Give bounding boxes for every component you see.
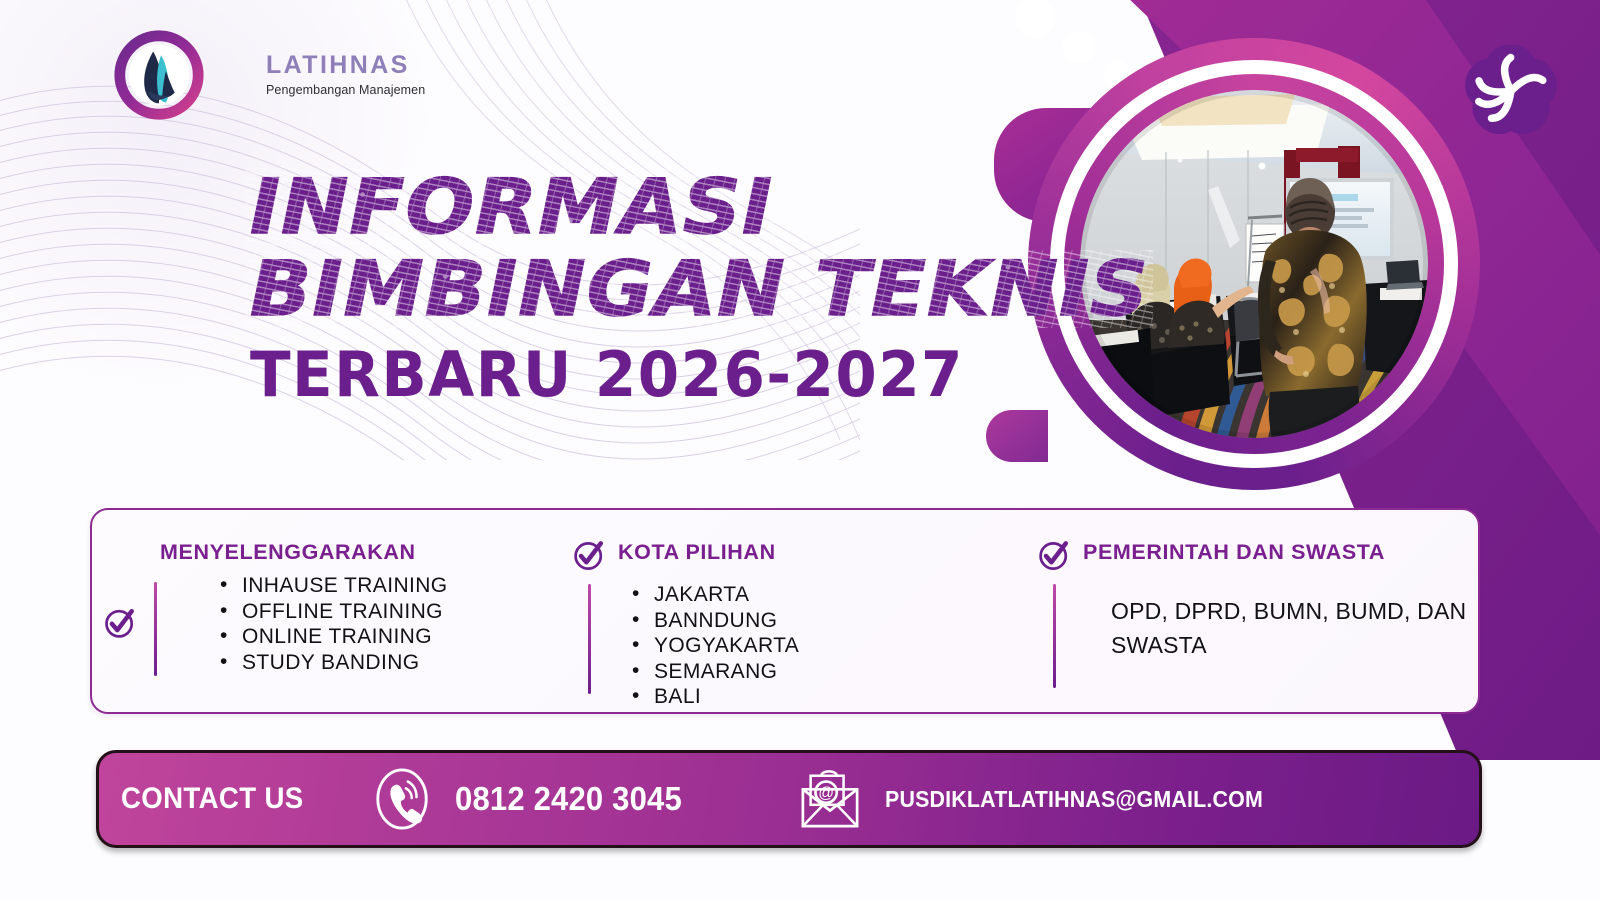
phone-call-icon[interactable] <box>371 768 433 830</box>
column-title: MENYELENGGARAKAN <box>160 540 416 565</box>
headline-line-3: TERBARU 2026-2027 <box>250 338 1064 411</box>
list-item: INHAUSE TRAINING <box>220 573 584 599</box>
column-list: JAKARTA BANNDUNG YOGYAKARTA SEMARANG BAL… <box>632 582 1002 710</box>
info-column-kota-pilihan: KOTA PILIHAN JAKARTA BANNDUNG YOGYAKARTA… <box>572 540 1002 710</box>
brand-tagline: Pengembangan Manajemen <box>266 83 425 97</box>
latihnas-logo-icon <box>110 26 208 124</box>
contact-email-address[interactable]: PUSDIKLATLATIHNAS@GMAIL.COM <box>885 786 1263 813</box>
list-item: OFFLINE TRAINING <box>220 599 584 625</box>
check-circle-icon <box>1037 538 1073 574</box>
column-divider <box>1053 584 1056 688</box>
headline-line-2: BIMBINGAN TEKNIS <box>250 254 1149 324</box>
list-item: ONLINE TRAINING <box>220 624 584 650</box>
brand-name: LATIHNAS <box>266 53 425 78</box>
headline-line-1: INFORMASI <box>250 172 773 242</box>
contact-bar: CONTACT US 0812 2420 3045 @ PUSDIKLATLAT… <box>96 750 1482 848</box>
info-card: MENYELENGGARAKAN INHAUSE TRAINING OFFLIN… <box>90 508 1480 714</box>
column-divider <box>154 582 157 676</box>
contact-phone-number[interactable]: 0812 2420 3045 <box>455 780 682 818</box>
list-item: SEMARANG <box>632 659 1002 685</box>
brand-header: LATIHNAS Pengembangan Manajemen <box>110 26 425 124</box>
email-envelope-icon[interactable]: @ <box>797 768 863 830</box>
column-list: INHAUSE TRAINING OFFLINE TRAINING ONLINE… <box>220 573 584 675</box>
poster-canvas: LATIHNAS Pengembangan Manajemen INFORMAS… <box>0 0 1600 900</box>
check-circle-icon <box>102 604 138 640</box>
info-column-pemerintah-dan-swasta: PEMERINTAH DAN SWASTA OPD, DPRD, BUMN, B… <box>1037 540 1467 662</box>
column-title: KOTA PILIHAN <box>618 540 776 565</box>
list-item: BALI <box>632 684 1002 710</box>
list-item: BANNDUNG <box>632 608 1002 634</box>
info-column-menyelenggarakan: MENYELENGGARAKAN INHAUSE TRAINING OFFLIN… <box>114 540 584 675</box>
column-text: OPD, DPRD, BUMN, BUMD, DAN SWASTA <box>1111 594 1467 662</box>
check-circle-icon <box>572 538 608 574</box>
list-item: STUDY BANDING <box>220 650 584 676</box>
list-item: JAKARTA <box>632 582 1002 608</box>
contact-us-label: CONTACT US <box>121 782 304 816</box>
column-divider <box>588 584 591 694</box>
column-title: PEMERINTAH DAN SWASTA <box>1083 540 1385 565</box>
headline-block: INFORMASI BIMBINGAN TEKNIS TERBARU 2026-… <box>250 172 1098 411</box>
svg-text:@: @ <box>818 785 834 802</box>
list-item: YOGYAKARTA <box>632 633 1002 659</box>
